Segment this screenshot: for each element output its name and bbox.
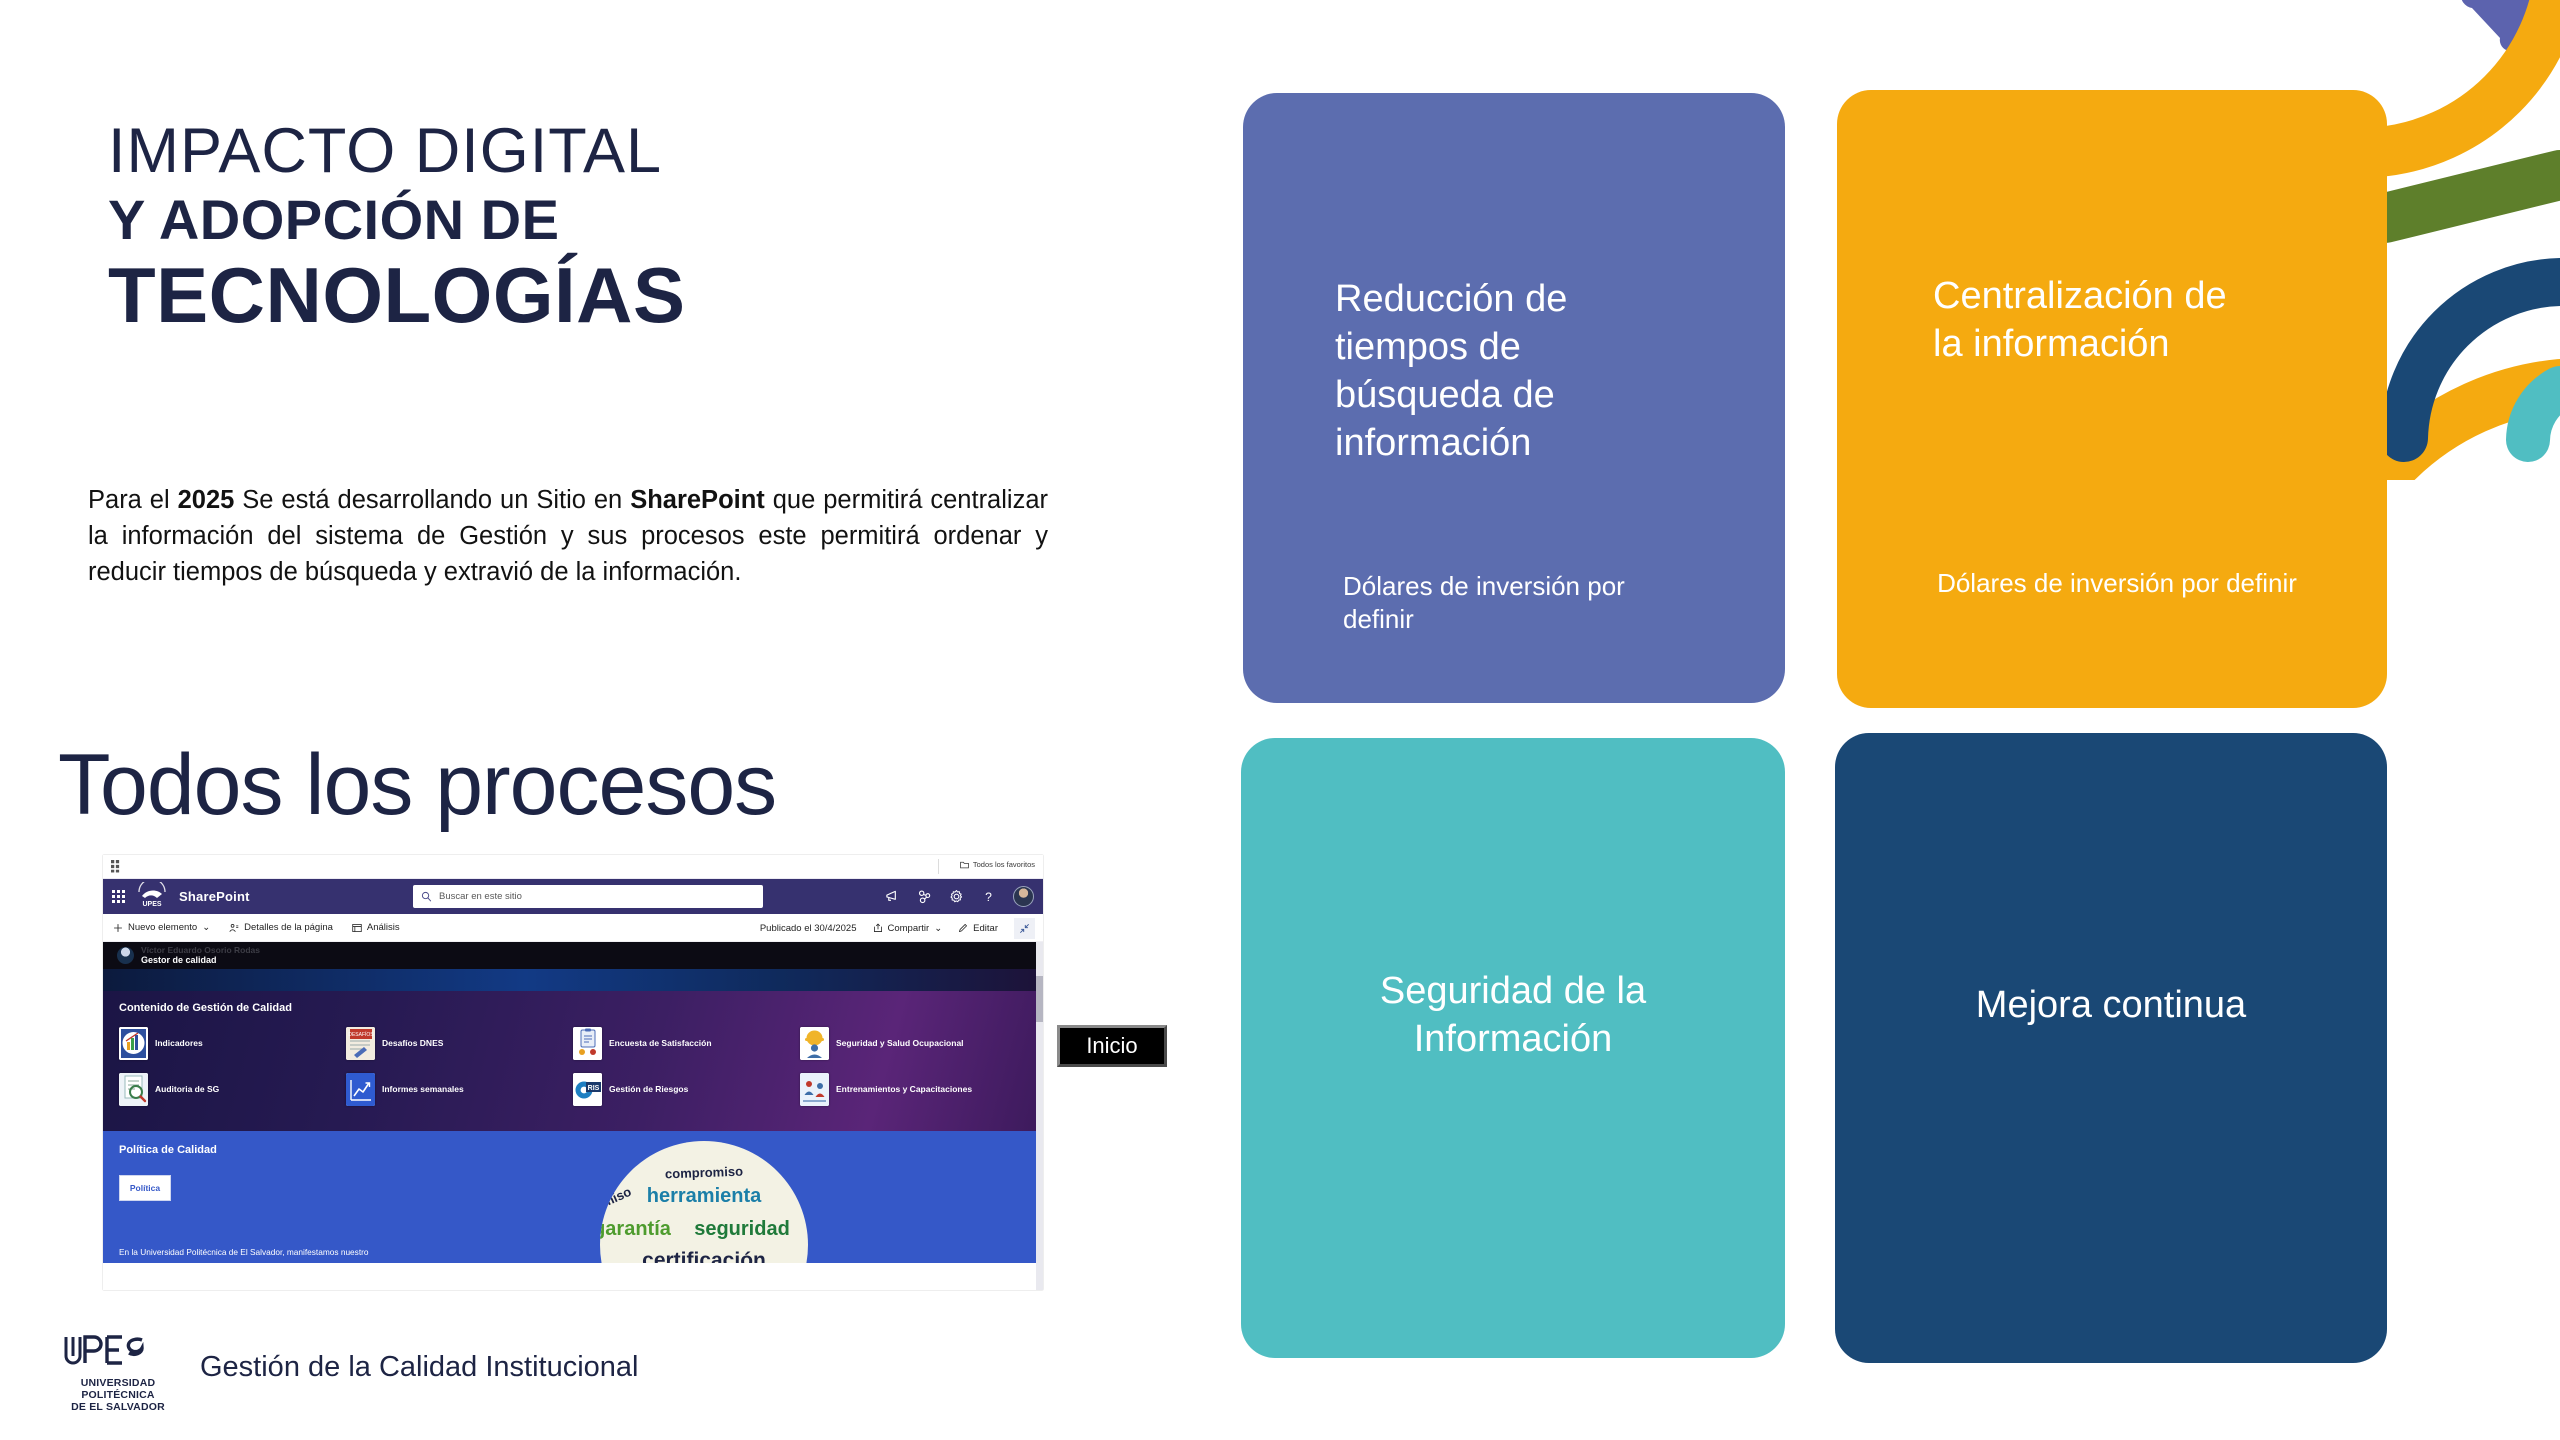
tile-seguridad-salud[interactable]: Seguridad y Salud Ocupacional <box>800 1027 1027 1060</box>
analytics-command[interactable]: Análisis <box>352 922 400 933</box>
wordcloud-word-1: compromiso <box>600 1161 808 1183</box>
paragraph-part-1: Para el <box>88 486 178 514</box>
collapse-arrows-icon <box>1019 923 1030 934</box>
analytics-label: Análisis <box>367 922 400 933</box>
card-centralizacion[interactable]: Centralización de la información Dólares… <box>1837 90 2387 708</box>
notebook-icon: DESAFÍOS <box>346 1027 375 1060</box>
app-launcher-icon[interactable] <box>112 890 126 904</box>
tile-label: Indicadores <box>155 1039 203 1048</box>
sharepoint-command-bar: Nuevo elemento ⌄ Detalles de la página <box>103 914 1043 942</box>
content-tiles-grid: Indicadores DESAFÍOS Desafíos DNES <box>119 1027 1027 1106</box>
folder-icon <box>960 860 969 869</box>
left-column: IMPACTO DIGITAL Y ADOPCIÓN DE TECNOLOGÍA… <box>0 0 1200 1440</box>
paragraph-bold-year: 2025 <box>178 486 235 514</box>
upes-footer-logo: UNIVERSIDAD POLITÉCNICA DE EL SALVADOR <box>62 1332 174 1413</box>
quality-content-section: Contenido de Gestión de Calidad Indicado… <box>103 991 1043 1131</box>
card-subtitle: Dólares de inversión por definir <box>1897 567 2337 600</box>
settings-gear-icon[interactable] <box>949 889 964 904</box>
page-details-label: Detalles de la página <box>244 922 333 933</box>
tile-label: Encuesta de Satisfacción <box>609 1039 712 1048</box>
sharepoint-brand-label: SharePoint <box>179 889 250 904</box>
footer-text: Gestión de la Calidad Institucional <box>200 1351 638 1384</box>
command-bar-right: Publicado el 30/4/2025 Compartir ⌄ Edita… <box>760 914 1035 942</box>
tile-label: Auditoria de SG <box>155 1085 219 1094</box>
suite-bar-icons: ? <box>885 879 1034 914</box>
svg-text:DESAFÍOS: DESAFÍOS <box>348 1031 374 1038</box>
tile-label: Seguridad y Salud Ocupacional <box>836 1039 964 1048</box>
paragraph-part-2: Se está desarrollando un Sitio en <box>234 486 630 514</box>
new-item-command[interactable]: Nuevo elemento ⌄ <box>113 922 210 933</box>
favorites-bar-item[interactable]: Todos los favoritos <box>960 860 1035 869</box>
logo-subtitle-2: DE EL SALVADOR <box>62 1401 174 1413</box>
edit-label: Editar <box>973 923 998 934</box>
tile-encuesta-satisfaccion[interactable]: Encuesta de Satisfacción <box>573 1027 800 1060</box>
sharepoint-search-box[interactable]: Buscar en este sitio <box>413 885 763 908</box>
navy-arc-icon <box>2404 282 2560 438</box>
slide: IMPACTO DIGITAL Y ADOPCIÓN DE TECNOLOGÍA… <box>0 0 2560 1440</box>
svg-text:UPES: UPES <box>142 901 161 908</box>
search-placeholder-text: Buscar en este sitio <box>439 891 522 902</box>
sharepoint-suite-bar: UPES SharePoint Buscar en este sitio <box>103 879 1043 914</box>
content-section-title: Contenido de Gestión de Calidad <box>119 1002 1027 1014</box>
card-title: Seguridad de la Información <box>1291 968 1735 1064</box>
search-icon <box>421 891 432 902</box>
title-line-2: Y ADOPCIÓN DE <box>108 189 1108 252</box>
chart-bars-icon <box>119 1027 148 1060</box>
clipboard-survey-svg <box>573 1027 602 1060</box>
svg-text:?: ? <box>985 890 992 904</box>
title-line-3: TECNOLOGÍAS <box>108 253 1108 339</box>
policy-button[interactable]: Política <box>119 1175 171 1201</box>
teal-arc-icon <box>2528 388 2560 440</box>
share-chevron-icon: ⌄ <box>934 923 942 934</box>
tile-label: Gestión de Riesgos <box>609 1085 688 1094</box>
upes-logo-svg: UPES <box>135 882 169 912</box>
sharepoint-screenshot[interactable]: Todos los favoritos UPES SharePoint <box>103 855 1043 1290</box>
logo-subtitle-1: UNIVERSIDAD POLITÉCNICA <box>62 1377 174 1401</box>
megaphone-feedback-icon[interactable] <box>885 889 900 904</box>
safety-helmet-svg <box>800 1027 829 1060</box>
card-reduccion-tiempos[interactable]: Reducción de tiempos de búsqueda de info… <box>1243 93 1785 703</box>
magnifier-audit-svg <box>119 1073 148 1106</box>
safety-helmet-icon <box>800 1027 829 1060</box>
author-avatar <box>117 947 134 964</box>
share-people-icon[interactable] <box>917 889 932 904</box>
intro-paragraph: Para el 2025 Se está desarrollando un Si… <box>88 482 1048 591</box>
tile-desafios-dnes[interactable]: DESAFÍOS Desafíos DNES <box>346 1027 573 1060</box>
published-date: Publicado el 30/4/2025 <box>760 923 857 934</box>
tile-label: Entrenamientos y Capacitaciones <box>836 1085 972 1094</box>
amber-arc-icon <box>2378 0 2560 152</box>
hero-gradient-band <box>103 969 1043 991</box>
card-title: Centralización de la información <box>1933 273 2263 369</box>
training-people-svg <box>800 1073 829 1106</box>
page-title: IMPACTO DIGITAL Y ADOPCIÓN DE TECNOLOGÍA… <box>108 118 1108 339</box>
help-question-icon[interactable]: ? <box>981 889 996 904</box>
processes-heading: Todos los procesos <box>58 742 776 828</box>
training-people-icon <box>800 1073 829 1106</box>
page-details-command[interactable]: Detalles de la página <box>229 922 333 933</box>
wordcloud-word-6: certificación <box>600 1249 808 1263</box>
title-line-1: IMPACTO DIGITAL <box>108 118 1108 185</box>
wordcloud-word-5: seguridad <box>662 1218 808 1241</box>
author-name: Víctor Eduardo Osorio Rodas <box>141 946 260 955</box>
share-icon <box>873 923 883 933</box>
waffle-grid-icon[interactable] <box>111 860 124 873</box>
trend-line-svg <box>346 1073 375 1106</box>
scrollbar-thumb[interactable] <box>1036 976 1043 1022</box>
tile-indicadores[interactable]: Indicadores <box>119 1027 346 1060</box>
ris-gear-svg: RIS <box>573 1073 602 1106</box>
browser-chrome-bar: Todos los favoritos <box>103 855 1043 879</box>
share-command[interactable]: Compartir ⌄ <box>873 923 943 934</box>
quality-wordcloud-image: compromiso omiso herramienta garantía se… <box>600 1141 808 1263</box>
tile-gestion-riesgos[interactable]: RIS Gestión de Riesgos <box>573 1073 800 1106</box>
paragraph-bold-sharepoint: SharePoint <box>630 486 765 514</box>
card-title: Mejora continua <box>1875 982 2347 1030</box>
chrome-divider <box>938 859 939 874</box>
edit-command[interactable]: Editar <box>958 923 998 934</box>
card-mejora-continua[interactable]: Mejora continua <box>1835 733 2387 1363</box>
pencil-edit-icon <box>958 923 968 933</box>
tile-label: Desafíos DNES <box>382 1039 443 1048</box>
clipboard-survey-icon <box>573 1027 602 1060</box>
svg-text:RIS: RIS <box>588 1085 600 1092</box>
card-title: Reducción de tiempos de búsqueda de info… <box>1335 276 1665 468</box>
upes-wordmark-icon <box>62 1332 174 1370</box>
share-label: Compartir <box>888 923 930 934</box>
notebook-svg: DESAFÍOS <box>346 1027 375 1060</box>
trend-line-icon <box>346 1073 375 1106</box>
analytics-icon <box>352 923 362 933</box>
ris-gear-icon: RIS <box>573 1073 602 1106</box>
policy-title: Política de Calidad <box>119 1144 1027 1156</box>
tile-label: Informes semanales <box>382 1085 464 1094</box>
author-names: Víctor Eduardo Osorio Rodas Gestor de ca… <box>141 946 260 965</box>
favorites-label: Todos los favoritos <box>973 860 1035 869</box>
expand-collapse-button[interactable] <box>1014 918 1035 939</box>
page-author-row: Víctor Eduardo Osorio Rodas Gestor de ca… <box>103 942 1043 969</box>
magnifier-audit-icon <box>119 1073 148 1106</box>
card-subtitle: Dólares de inversión por definir <box>1343 570 1673 637</box>
wordcloud-word-3: herramienta <box>600 1185 808 1208</box>
new-item-chevron-icon: ⌄ <box>202 922 210 933</box>
author-role: Gestor de calidad <box>141 956 260 965</box>
policy-text: En la Universidad Politécnica de El Salv… <box>119 1248 539 1258</box>
plus-icon <box>113 923 123 933</box>
new-item-label: Nuevo elemento <box>128 922 197 933</box>
page-details-icon <box>229 923 239 933</box>
sharepoint-scrollbar[interactable] <box>1036 942 1043 1290</box>
tile-auditoria-sg[interactable]: Auditoria de SG <box>119 1073 346 1106</box>
card-seguridad-informacion[interactable]: Seguridad de la Información <box>1241 738 1785 1358</box>
slide-footer: UNIVERSIDAD POLITÉCNICA DE EL SALVADOR G… <box>62 1332 638 1413</box>
policy-section: Política de Calidad Política En la Unive… <box>103 1131 1043 1263</box>
upes-logo-icon[interactable]: UPES <box>135 882 169 912</box>
benefit-cards-grid: Reducción de tiempos de búsqueda de info… <box>1243 93 2383 1333</box>
purple-shape-icon <box>2461 0 2560 51</box>
chart-bars-svg <box>119 1027 148 1060</box>
user-avatar[interactable] <box>1013 886 1034 907</box>
tile-informes-semanales[interactable]: Informes semanales <box>346 1073 573 1106</box>
olive-bar-icon <box>2385 175 2560 218</box>
tile-entrenamientos[interactable]: Entrenamientos y Capacitaciones <box>800 1073 1027 1106</box>
inicio-button[interactable]: Inicio <box>1057 1025 1167 1067</box>
